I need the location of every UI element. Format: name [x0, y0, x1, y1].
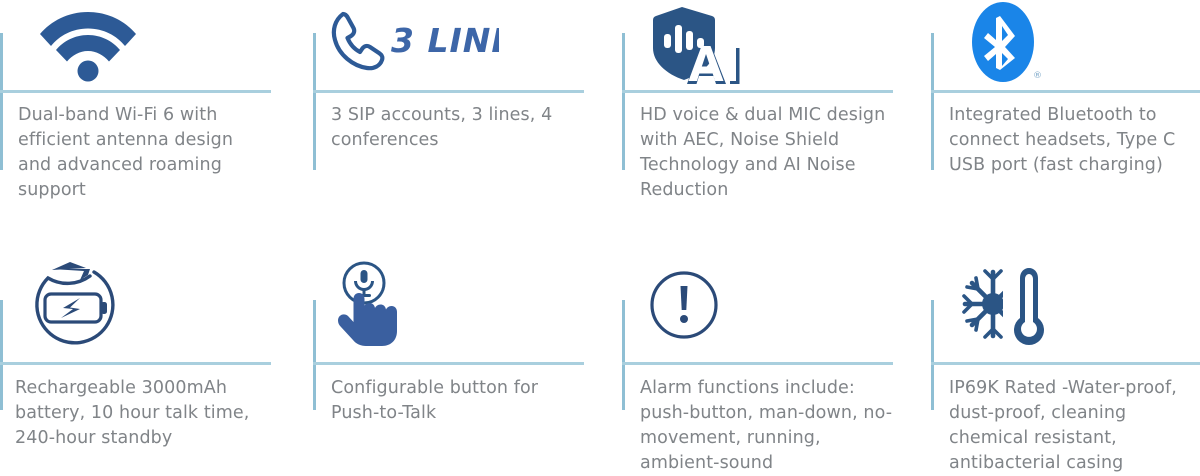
- divider-line: [0, 90, 271, 93]
- ai-noise-shield-icon: [644, 4, 754, 86]
- feature-card-ptt: Configurable button for Push-to-Talk: [313, 240, 613, 472]
- feature-description: Dual-band Wi-Fi 6 with efficient antenna…: [18, 103, 263, 203]
- feature-description: Integrated Bluetooth to connect headsets…: [949, 103, 1200, 178]
- feature-card-wifi: Dual-band Wi-Fi 6 with efficient antenna…: [0, 0, 300, 236]
- divider-line: [0, 362, 271, 365]
- wifi-icon: [38, 2, 138, 82]
- divider-line: [622, 362, 893, 365]
- accent-bar: [931, 300, 934, 410]
- feature-card-ai-voice: HD voice & dual MIC design with AEC, Noi…: [622, 0, 922, 236]
- bluetooth-icon: ®: [963, 0, 1063, 86]
- push-to-talk-hand-icon: [329, 260, 419, 356]
- lines-label: 3 LINES: [391, 21, 499, 60]
- accent-bar: [622, 33, 625, 170]
- rechargeable-battery-icon: [28, 260, 128, 356]
- divider-line: [931, 90, 1200, 93]
- accent-bar: [931, 33, 934, 170]
- divider-line: [313, 90, 584, 93]
- feature-card-bluetooth: ® Integrated Bluetooth to connect headse…: [931, 0, 1200, 236]
- divider-line: [313, 362, 584, 365]
- bluetooth-registered-mark: ®: [1033, 71, 1042, 81]
- feature-card-battery: Rechargeable 3000mAh battery, 10 hour ta…: [0, 240, 300, 472]
- phone-handset-icon: 3 LINES: [329, 8, 499, 74]
- accent-bar: [0, 33, 3, 170]
- feature-grid: Dual-band Wi-Fi 6 with efficient antenna…: [0, 0, 1200, 472]
- feature-card-ip69k: IP69K Rated -Water-proof, dust-proof, cl…: [931, 240, 1200, 472]
- feature-description: Alarm functions include: push-button, ma…: [640, 376, 900, 476]
- feature-description: Rechargeable 3000mAh battery, 10 hour ta…: [15, 376, 270, 451]
- accent-bar: [313, 33, 316, 170]
- feature-card-alarm: Alarm functions include: push-button, ma…: [622, 240, 922, 472]
- divider-line: [931, 362, 1200, 365]
- feature-description: 3 SIP accounts, 3 lines, 4 conferences: [331, 103, 576, 153]
- accent-bar: [313, 300, 316, 410]
- accent-bar: [0, 300, 3, 410]
- divider-line: [622, 90, 893, 93]
- snowflake-thermometer-icon: [959, 262, 1054, 356]
- feature-description: IP69K Rated -Water-proof, dust-proof, cl…: [949, 376, 1200, 476]
- feature-card-lines: 3 LINES 3 SIP accounts, 3 lines, 4 confe…: [313, 0, 613, 236]
- alarm-exclamation-icon: [650, 270, 730, 356]
- accent-bar: [622, 300, 625, 410]
- feature-description: HD voice & dual MIC design with AEC, Noi…: [640, 103, 910, 203]
- feature-description: Configurable button for Push-to-Talk: [331, 376, 586, 426]
